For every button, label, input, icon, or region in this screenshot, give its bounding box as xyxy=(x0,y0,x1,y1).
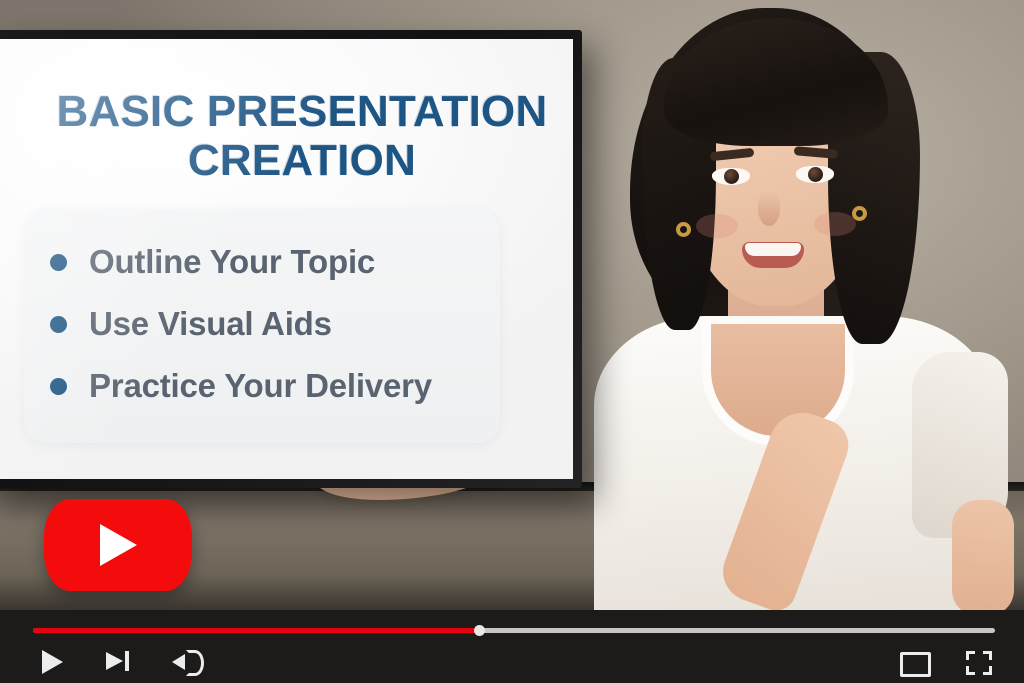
cheek-left xyxy=(696,214,738,238)
earring-left xyxy=(676,222,691,237)
video-player[interactable]: BASIC PRESENTATION CREATION Outline Your… xyxy=(0,0,1024,683)
list-item: Use Visual Aids xyxy=(50,293,474,355)
player-control-bar[interactable] xyxy=(0,610,1024,683)
fullscreen-corner-tr xyxy=(983,651,992,660)
list-item: Outline Your Topic xyxy=(50,231,474,293)
slide-canvas: BASIC PRESENTATION CREATION Outline Your… xyxy=(0,39,573,479)
list-item: Practice Your Delivery xyxy=(50,355,474,417)
next-button[interactable] xyxy=(105,648,135,676)
fullscreen-button[interactable] xyxy=(964,648,994,676)
left-controls xyxy=(38,648,202,676)
bullet-label: Practice Your Delivery xyxy=(89,367,432,405)
wall-mounted-screen: BASIC PRESENTATION CREATION Outline Your… xyxy=(0,30,582,488)
progress-played xyxy=(33,628,480,633)
earring-right xyxy=(852,206,867,221)
cheek-right xyxy=(814,212,856,236)
right-arm xyxy=(952,500,1014,610)
slide-bullet-card: Outline Your Topic Use Visual Aids Pract… xyxy=(24,209,500,443)
nose xyxy=(758,192,780,226)
bullet-label: Use Visual Aids xyxy=(89,305,332,343)
volume-button[interactable] xyxy=(172,648,202,676)
mouth-smiling xyxy=(742,242,804,268)
theater-button[interactable] xyxy=(898,648,928,676)
right-controls xyxy=(898,648,994,676)
bullet-dot-icon xyxy=(50,378,67,395)
fullscreen-corner-tl xyxy=(966,651,975,660)
play-button[interactable] xyxy=(38,648,68,676)
presenter xyxy=(560,0,1024,610)
bullet-dot-icon xyxy=(50,316,67,333)
bullet-label: Outline Your Topic xyxy=(89,243,375,281)
bullet-dot-icon xyxy=(50,254,67,271)
video-surface[interactable]: BASIC PRESENTATION CREATION Outline Your… xyxy=(0,0,1024,610)
fullscreen-corner-br xyxy=(983,666,992,675)
progress-scrubber-handle[interactable] xyxy=(474,625,485,636)
eye-left xyxy=(712,168,750,185)
youtube-logo-icon xyxy=(44,499,192,591)
eye-right xyxy=(796,166,834,183)
fullscreen-corner-bl xyxy=(966,666,975,675)
progress-bar[interactable] xyxy=(33,628,995,633)
slide-title: BASIC PRESENTATION CREATION xyxy=(32,87,572,186)
